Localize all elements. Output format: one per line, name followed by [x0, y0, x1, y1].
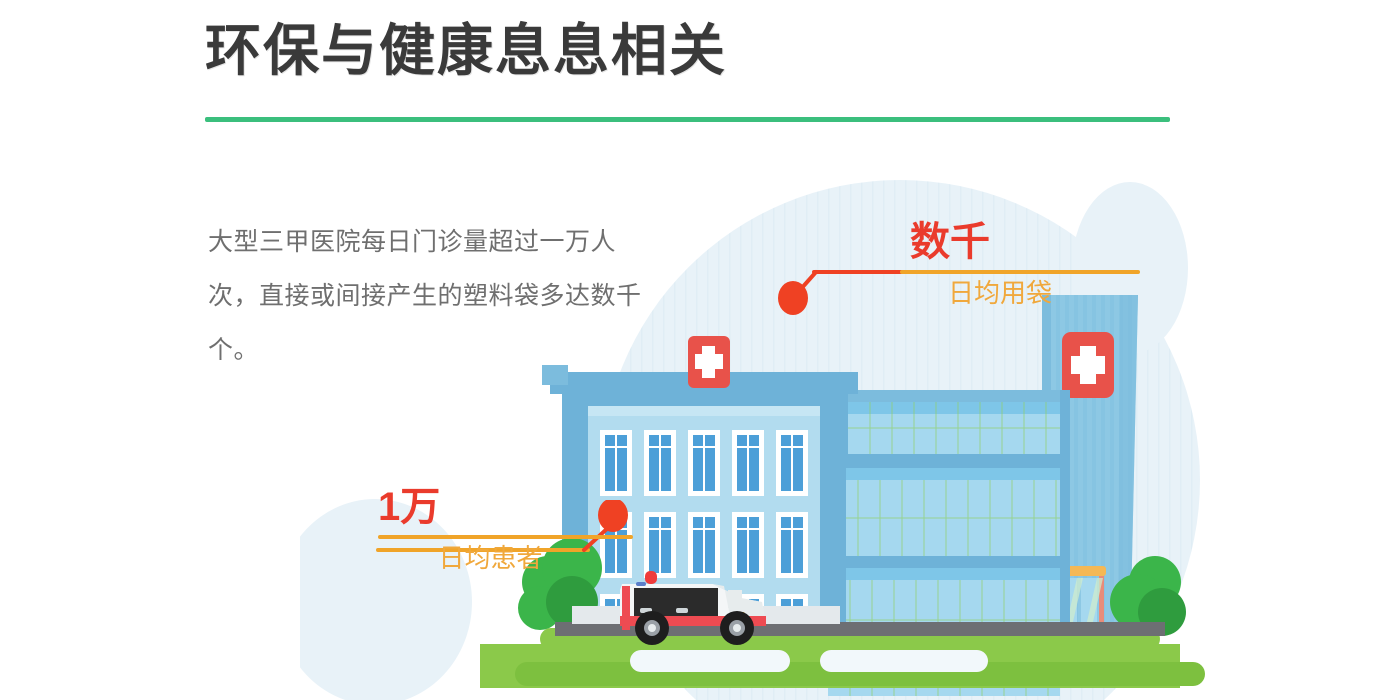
callout-tenthousand-value: 1万: [378, 487, 638, 527]
grass-band: [480, 628, 1205, 688]
callout-thousands-value: 数千: [900, 222, 1150, 262]
callout-thousands-label: 日均用袋: [900, 280, 1100, 306]
callout-thousands: 数千 日均用袋: [900, 222, 1150, 306]
callout-thousands-rule: [900, 270, 1140, 274]
title-underline-rule: [205, 117, 1170, 122]
slide-canvas: 环保与健康息息相关 大型三甲医院每日门诊量超过一万人次，直接或间接产生的塑料袋多…: [0, 0, 1400, 700]
page-title: 环保与健康息息相关: [205, 22, 1205, 81]
callout-tenthousand-rule: [378, 535, 633, 539]
callout-tenthousand-label: 日均患者: [378, 545, 603, 571]
hospital-illustration: [300, 150, 1400, 700]
callout-tenthousand: 1万 日均患者: [378, 487, 638, 571]
title-block: 环保与健康息息相关: [205, 22, 1205, 81]
hospital-roof-cross-sign: [688, 336, 730, 388]
tower-cross-sign: [1062, 332, 1114, 398]
